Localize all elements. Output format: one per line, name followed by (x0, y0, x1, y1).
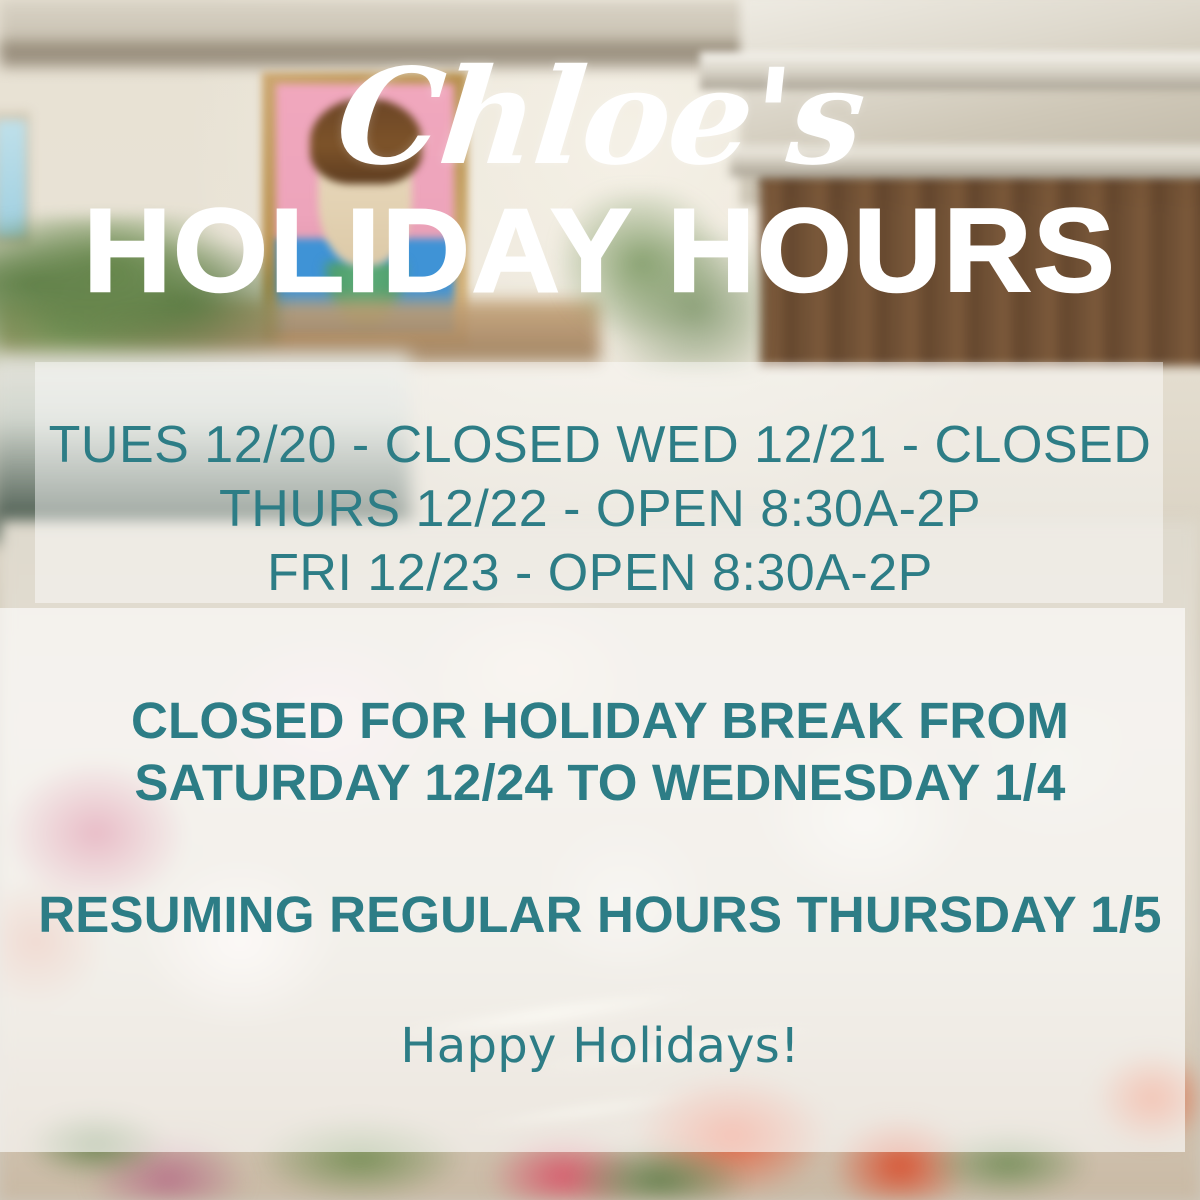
poster-content: Chloe's HOLIDAY HOURS TUES 12/20 - CLOSE… (0, 0, 1200, 1200)
break-notice-line: SATURDAY 12/24 TO WEDNESDAY 1/4 (0, 752, 1200, 814)
hours-line: THURS 12/22 - OPEN 8:30A-2P (0, 478, 1200, 542)
break-notice-line: CLOSED FOR HOLIDAY BREAK FROM (0, 690, 1200, 752)
resume-notice-line: RESUMING REGULAR HOURS THURSDAY 1/5 (0, 884, 1200, 945)
page-title: HOLIDAY HOURS (0, 192, 1200, 310)
holiday-break-notice: CLOSED FOR HOLIDAY BREAK FROM SATURDAY 1… (0, 690, 1200, 814)
resume-hours-notice: RESUMING REGULAR HOURS THURSDAY 1/5 (0, 884, 1200, 945)
hours-list: TUES 12/20 - CLOSED WED 12/21 - CLOSED T… (0, 414, 1200, 606)
sign-off-message: Happy Holidays! (0, 1018, 1200, 1076)
hours-line: FRI 12/23 - OPEN 8:30A-2P (0, 542, 1200, 606)
hours-line: TUES 12/20 - CLOSED WED 12/21 - CLOSED (0, 414, 1200, 478)
holiday-hours-poster: Chloe's HOLIDAY HOURS TUES 12/20 - CLOSE… (0, 0, 1200, 1200)
brand-script-logo: Chloe's (0, 52, 1200, 184)
